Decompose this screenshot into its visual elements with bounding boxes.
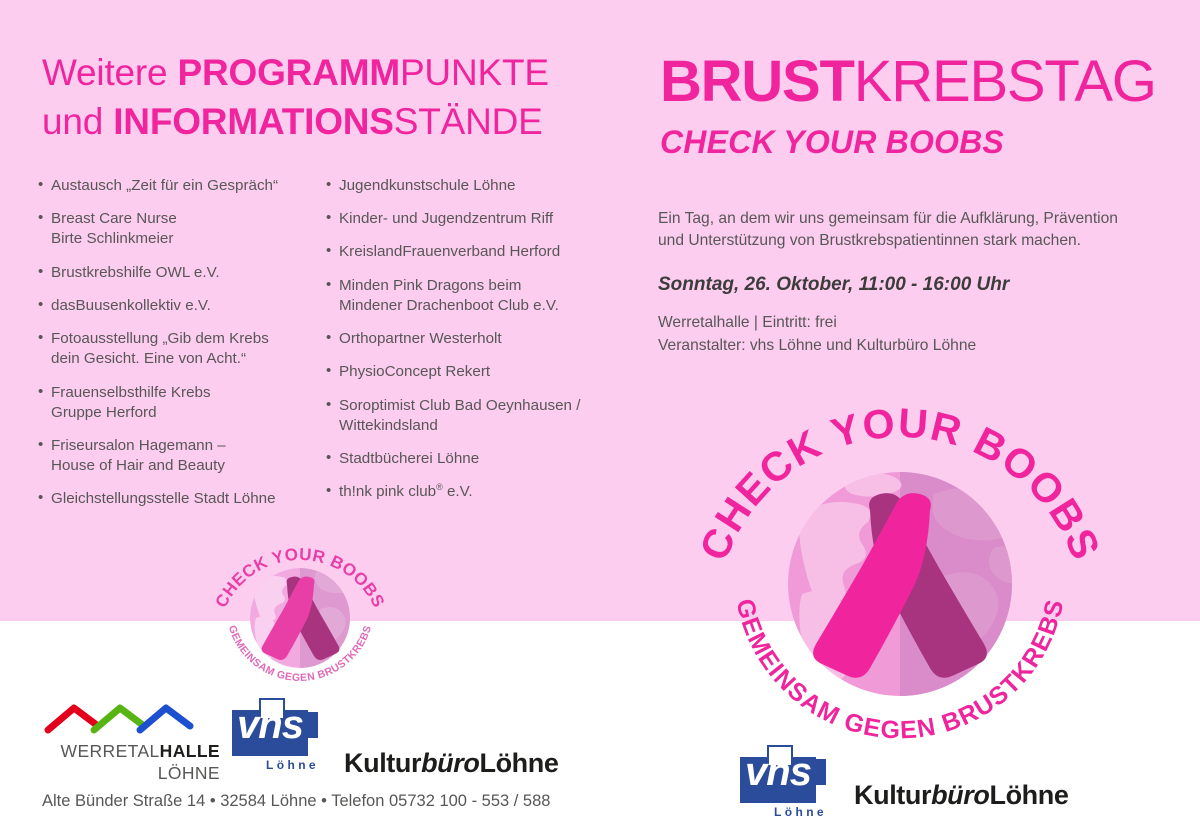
list-item-line: Kinder- und Jugendzentrum Riff bbox=[339, 209, 594, 229]
list-item: Kinder- und Jugendzentrum Riff bbox=[326, 209, 594, 229]
program-list-2: Jugendkunstschule LöhneKinder- und Jugen… bbox=[326, 176, 594, 502]
list-item-line: dein Gesicht. Eine von Acht.“ bbox=[51, 349, 306, 369]
list-item-line: Brustkrebshilfe OWL e.V. bbox=[51, 263, 306, 283]
list-item: Breast Care NurseBirte Schlinkmeier bbox=[38, 209, 306, 249]
list-item: Minden Pink Dragons beimMindener Drachen… bbox=[326, 276, 594, 316]
list-item-line: House of Hair and Beauty bbox=[51, 456, 306, 476]
werretalhalle-halle: HALLE bbox=[160, 741, 220, 761]
title-krebstag: KREBSTAG bbox=[854, 49, 1156, 114]
left-heading-weitere: Weitere bbox=[42, 52, 178, 93]
list-item: Soroptimist Club Bad Oeynhausen /Witteki… bbox=[326, 396, 594, 436]
vhs-sub-loehne: Löhne bbox=[266, 758, 319, 772]
list-item-line: Gruppe Herford bbox=[51, 403, 306, 423]
kultur-word-2: büro bbox=[421, 748, 479, 778]
list-item-line: Orthopartner Westerholt bbox=[339, 329, 594, 349]
list-item-line: KreislandFrauenverband Herford bbox=[339, 242, 594, 262]
kultur-word-3: Löhne bbox=[989, 780, 1068, 810]
left-heading-und: und bbox=[42, 101, 113, 142]
list-item: Jugendkunstschule Löhne bbox=[326, 176, 594, 196]
list-item: th!nk pink club® e.V. bbox=[326, 482, 594, 502]
list-item: Gleichstellungsstelle Stadt Löhne bbox=[38, 489, 306, 509]
program-list-1: Austausch „Zeit für ein Gespräch“Breast … bbox=[38, 176, 306, 510]
list-item-line: PhysioConcept Rekert bbox=[339, 362, 594, 382]
werretalhalle-line-1: WERRETALHALLE bbox=[40, 741, 220, 762]
list-item-line: Breast Care Nurse bbox=[51, 209, 306, 229]
vhs-wordmark: vhs bbox=[740, 749, 816, 795]
list-item: Orthopartner Westerholt bbox=[326, 329, 594, 349]
left-heading-line1: Weitere PROGRAMMPUNKTE bbox=[42, 48, 602, 97]
list-item-line: Soroptimist Club Bad Oeynhausen / bbox=[339, 396, 594, 416]
list-item-line: Mindener Drachenboot Club e.V. bbox=[339, 296, 594, 316]
kultur-word-1: Kultur bbox=[344, 748, 421, 778]
page-subtitle: CHECK YOUR BOOBS bbox=[660, 124, 1004, 161]
vhs-sub-loehne: Löhne bbox=[774, 805, 827, 819]
badge-large-graphic: CHECK YOUR BOOBS GEMEINSAM GEGEN BRUSTKR… bbox=[698, 398, 1102, 758]
vhs-mark-box: vhs bbox=[740, 757, 816, 803]
list-item-line: Birte Schlinkmeier bbox=[51, 229, 306, 249]
list-item-line: dasBuusenkollektiv e.V. bbox=[51, 296, 306, 316]
intro-paragraph: Ein Tag, an dem wir uns gemeinsam für di… bbox=[658, 208, 1148, 253]
check-your-boobs-badge-small: CHECK YOUR BOOBS GEMEINSAM GEGEN BRUSTKR… bbox=[210, 534, 390, 694]
intro-line-2: und Unterstützung von Brustkrebspatienti… bbox=[658, 230, 1148, 252]
left-heading-programm: PROGRAMM bbox=[178, 52, 400, 93]
list-item-line: Gleichstellungsstelle Stadt Löhne bbox=[51, 489, 306, 509]
left-heading-line2: und INFORMATIONSSTÄNDE bbox=[42, 97, 602, 146]
werretalhalle-werretal: WERRETAL bbox=[61, 741, 160, 761]
venue-line-2: Veranstalter: vhs Löhne und Kulturbüro L… bbox=[658, 334, 1148, 357]
list-item: Stadtbücherei Löhne bbox=[326, 449, 594, 469]
werretalhalle-loehne: LÖHNE bbox=[40, 763, 220, 784]
vhs-mark-box: vhs bbox=[232, 710, 308, 756]
poster-canvas: Weitere PROGRAMMPUNKTE und INFORMATIONSS… bbox=[0, 0, 1200, 819]
list-item-line: Fotoausstellung „Gib dem Krebs bbox=[51, 329, 306, 349]
footer-address: Alte Bünder Straße 14 • 32584 Löhne • Te… bbox=[42, 792, 550, 811]
list-item: Frauenselbsthilfe KrebsGruppe Herford bbox=[38, 383, 306, 423]
list-item: KreislandFrauenverband Herford bbox=[326, 242, 594, 262]
kultur-word-2: büro bbox=[931, 780, 989, 810]
left-heading-punkte: PUNKTE bbox=[400, 52, 549, 93]
list-item-line: Stadtbücherei Löhne bbox=[339, 449, 594, 469]
page-title: BRUSTKREBSTAG bbox=[660, 52, 1156, 113]
intro-line-1: Ein Tag, an dem wir uns gemeinsam für di… bbox=[658, 208, 1148, 230]
werretalhalle-peaks-icon bbox=[40, 700, 220, 734]
list-item: Austausch „Zeit für ein Gespräch“ bbox=[38, 176, 306, 196]
list-item-line: Friseursalon Hagemann – bbox=[51, 436, 306, 456]
list-item: Fotoausstellung „Gib dem Krebsdein Gesic… bbox=[38, 329, 306, 369]
list-item: Brustkrebshilfe OWL e.V. bbox=[38, 263, 306, 283]
venue-line-1: Werretalhalle | Eintritt: frei bbox=[658, 311, 1148, 334]
left-heading: Weitere PROGRAMMPUNKTE und INFORMATIONSS… bbox=[42, 48, 602, 146]
vhs-logo-right[interactable]: vhs Löhne bbox=[740, 757, 816, 803]
list-item-line: Frauenselbsthilfe Krebs bbox=[51, 383, 306, 403]
kultur-word-1: Kultur bbox=[854, 780, 931, 810]
list-item-line: Wittekindsland bbox=[339, 416, 594, 436]
list-item: PhysioConcept Rekert bbox=[326, 362, 594, 382]
check-your-boobs-badge-large: CHECK YOUR BOOBS GEMEINSAM GEGEN BRUSTKR… bbox=[698, 398, 1102, 758]
list-item-line: Minden Pink Dragons beim bbox=[339, 276, 594, 296]
list-item: Friseursalon Hagemann –House of Hair and… bbox=[38, 436, 306, 476]
kultur-word-3: Löhne bbox=[479, 748, 558, 778]
list-item: dasBuusenkollektiv e.V. bbox=[38, 296, 306, 316]
list-item-line: Jugendkunstschule Löhne bbox=[339, 176, 594, 196]
list-item-line: Austausch „Zeit für ein Gespräch“ bbox=[51, 176, 306, 196]
program-list-column-2: Jugendkunstschule LöhneKinder- und Jugen… bbox=[326, 176, 594, 523]
kulturbuero-logo-left[interactable]: KulturbüroLöhne bbox=[344, 748, 558, 779]
program-list-column-1: Austausch „Zeit für ein Gespräch“Breast … bbox=[38, 176, 306, 523]
badge-small-graphic: CHECK YOUR BOOBS GEMEINSAM GEGEN BRUSTKR… bbox=[210, 534, 390, 694]
program-lists: Austausch „Zeit für ein Gespräch“Breast … bbox=[38, 176, 598, 523]
kulturbuero-logo-right[interactable]: KulturbüroLöhne bbox=[854, 780, 1068, 811]
event-venue-info: Werretalhalle | Eintritt: frei Veranstal… bbox=[658, 311, 1148, 357]
event-datetime: Sonntag, 26. Oktober, 11:00 - 16:00 Uhr bbox=[658, 274, 1009, 296]
left-heading-informations: INFORMATIONS bbox=[113, 101, 394, 142]
title-brust: BRUST bbox=[660, 49, 854, 114]
vhs-wordmark: vhs bbox=[232, 702, 308, 748]
werretalhalle-logo[interactable]: WERRETALHALLE LÖHNE bbox=[40, 700, 220, 784]
vhs-logo-left[interactable]: vhs Löhne bbox=[232, 710, 308, 756]
list-item-line: th!nk pink club® e.V. bbox=[339, 482, 594, 502]
left-heading-staende: STÄNDE bbox=[394, 101, 543, 142]
